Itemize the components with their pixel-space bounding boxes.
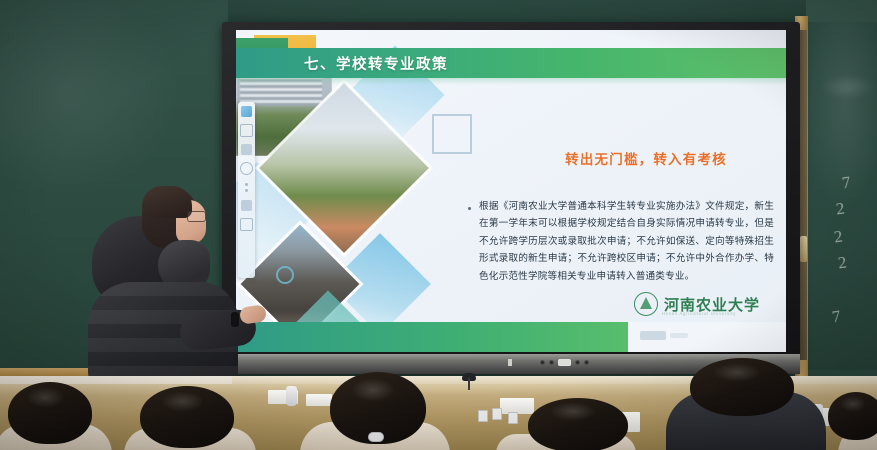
eyeglasses-icon: [187, 211, 206, 222]
slide-banner-fade: [236, 78, 786, 85]
side-board-panel: [800, 30, 807, 360]
side-board-handle[interactable]: [800, 236, 807, 262]
power-button-icon[interactable]: [540, 360, 545, 365]
student-head: [140, 386, 234, 448]
decor-circle-icon: [276, 266, 294, 284]
desk-sticker: [508, 412, 518, 424]
chalk-smudge: [820, 74, 876, 100]
chalk-mark: 2: [833, 227, 844, 245]
circle-icon[interactable]: [240, 162, 253, 175]
slide-photo-collage: [236, 70, 501, 352]
display-hardware-controls[interactable]: [540, 359, 589, 366]
student-head: [690, 358, 794, 416]
pen-icon[interactable]: [241, 106, 252, 117]
water-bottle: [286, 386, 297, 406]
shape-square-icon[interactable]: [240, 124, 253, 137]
presentation-slide: 七、学校转专业政策 转出无门槛，转入有考核 根据《河南农业大学普通本科学生转专业…: [236, 30, 786, 352]
slide-title-banner: 七、学校转专业政策: [236, 48, 786, 78]
display-screen[interactable]: 七、学校转专业政策 转出无门槛，转入有考核 根据《河南农业大学普通本科学生转专业…: [236, 30, 786, 352]
chalk-mark: 2: [837, 253, 848, 271]
university-name-en: Henan Agricultural University: [662, 311, 736, 316]
volume-button-icon[interactable]: [558, 359, 571, 366]
decor-square-outline: [432, 114, 472, 154]
slide-footer-band: [236, 322, 628, 352]
presenter-teacher: [84, 186, 256, 386]
chalk-mark: 7: [841, 173, 852, 191]
presenter-hair: [142, 186, 192, 218]
slide-body-paragraph: 根据《河南农业大学普通本科学生转专业实施办法》文件规定，新生在第一学年末可以根据…: [479, 198, 774, 285]
microphone-stand: [468, 378, 470, 390]
bullet-dot-icon: [468, 207, 471, 210]
smart-board-display[interactable]: 七、学校转专业政策 转出无门槛，转入有考核 根据《河南农业大学普通本科学生转专业…: [222, 22, 800, 374]
slide-body-block: 根据《河南农业大学普通本科学生转专业实施办法》文件规定，新生在第一学年末可以根据…: [468, 198, 774, 285]
desk-sticker: [492, 408, 502, 420]
input-source-icon[interactable]: [575, 360, 580, 365]
student-eyeglasses-icon: [44, 417, 67, 429]
chalk-mark: 7: [831, 307, 842, 325]
taskbar-chip-secondary[interactable]: [670, 333, 688, 338]
slide-title: 七、学校转专业政策: [304, 53, 448, 74]
taskbar-chip[interactable]: [640, 331, 666, 340]
university-logo: 河南农业大学 Henan Agricultural University: [634, 292, 760, 316]
paper-sheet: [306, 394, 332, 406]
chalkboard-right-panel: 7 2 2 2 7: [806, 22, 877, 370]
student-head: [828, 392, 877, 440]
menu-button-icon[interactable]: [549, 360, 554, 365]
wristwatch: [231, 312, 239, 327]
slide-highlight-heading: 转出无门槛，转入有考核: [516, 148, 776, 168]
eraser-icon[interactable]: [241, 144, 252, 155]
display-brand-mark: [508, 359, 512, 366]
chalk-mark: 2: [835, 199, 846, 217]
hair-tie: [368, 432, 384, 442]
home-button-icon[interactable]: [584, 360, 589, 365]
student-head: [528, 398, 628, 450]
university-emblem-icon: [634, 292, 658, 316]
student-head: [8, 382, 92, 444]
classroom-scene: 7 2 2 2 7: [0, 0, 877, 450]
desk-sticker: [478, 410, 488, 422]
